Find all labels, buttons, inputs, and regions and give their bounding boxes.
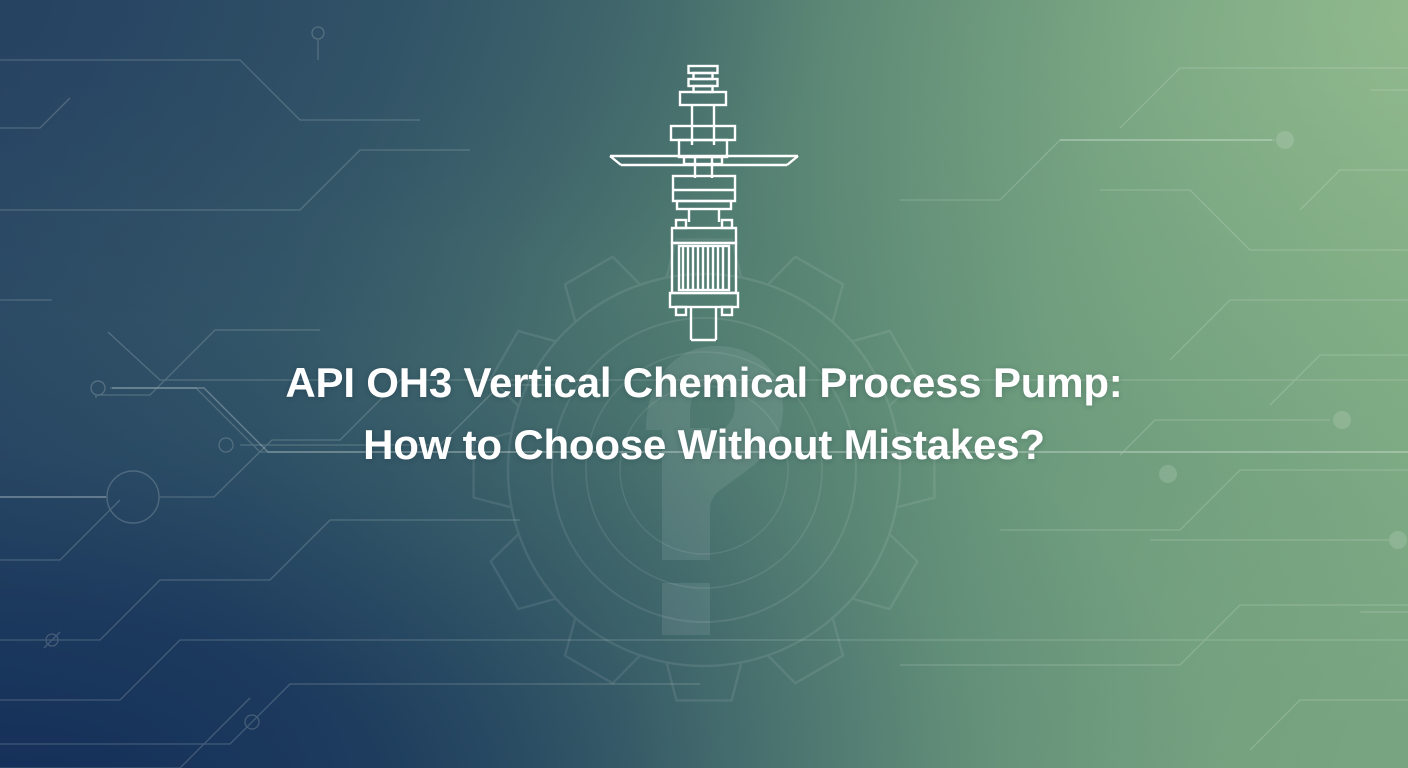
hero-banner: API OH3 Vertical Chemical Process Pump: … <box>0 0 1408 768</box>
background-green-bottom-right <box>0 0 1408 768</box>
